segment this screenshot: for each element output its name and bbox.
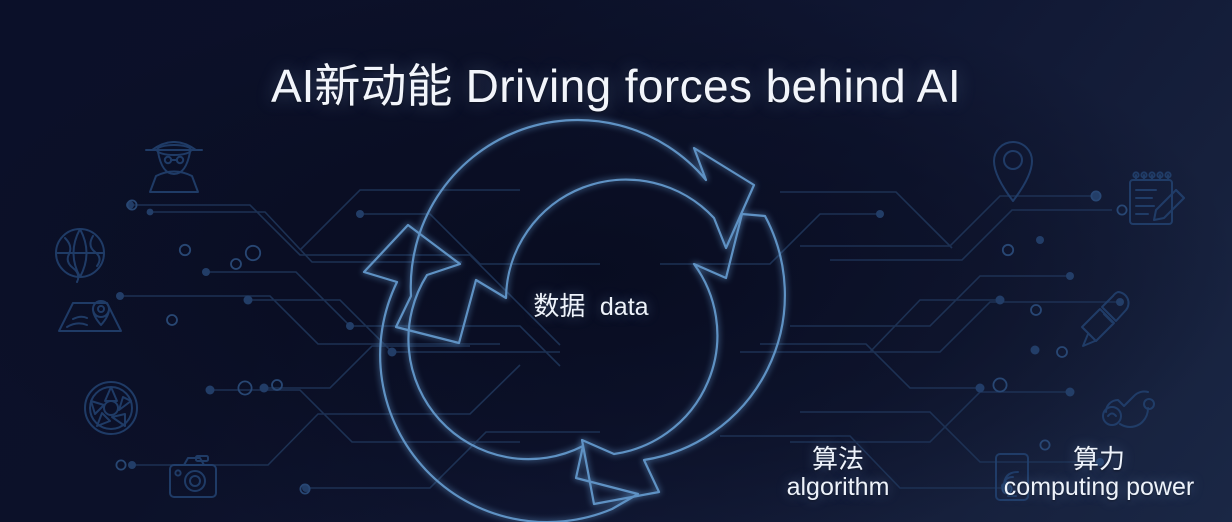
page-title-space: [452, 60, 465, 112]
cycle-label-computing-power: 算力 computing power: [993, 445, 1205, 503]
spy-detective-icon: [146, 142, 202, 192]
globe-icon: [56, 229, 104, 282]
cycle-label-computing-power-en: computing power: [993, 473, 1205, 503]
camera-icon: [170, 456, 216, 497]
phone-handset-icon: [1103, 391, 1154, 427]
page-title-en: Driving forces behind AI: [466, 60, 961, 112]
notepad-pen-icon: [1130, 172, 1184, 224]
cycle-arrow-computing-power: [582, 214, 785, 504]
slide-root: AI新动能 Driving forces behind AI: [0, 0, 1232, 522]
wheel-icon: [85, 382, 137, 434]
page-title: AI新动能 Driving forces behind AI: [0, 50, 1232, 116]
tablet-signal-icon: [996, 454, 1028, 500]
page-title-cn: AI新动能: [271, 60, 452, 112]
cycle-diagram: 数据 data 算法 algorithm 算力 computing power: [376, 128, 806, 522]
cycle-arrow-data: [396, 120, 754, 343]
map-pin-icon: [59, 301, 121, 331]
location-pin-icon: [994, 142, 1032, 201]
pen-tool-icon: [1082, 292, 1129, 346]
cycle-arrow-algorithm: [364, 225, 638, 522]
cycle-label-computing-power-cn: 算力: [993, 445, 1205, 473]
